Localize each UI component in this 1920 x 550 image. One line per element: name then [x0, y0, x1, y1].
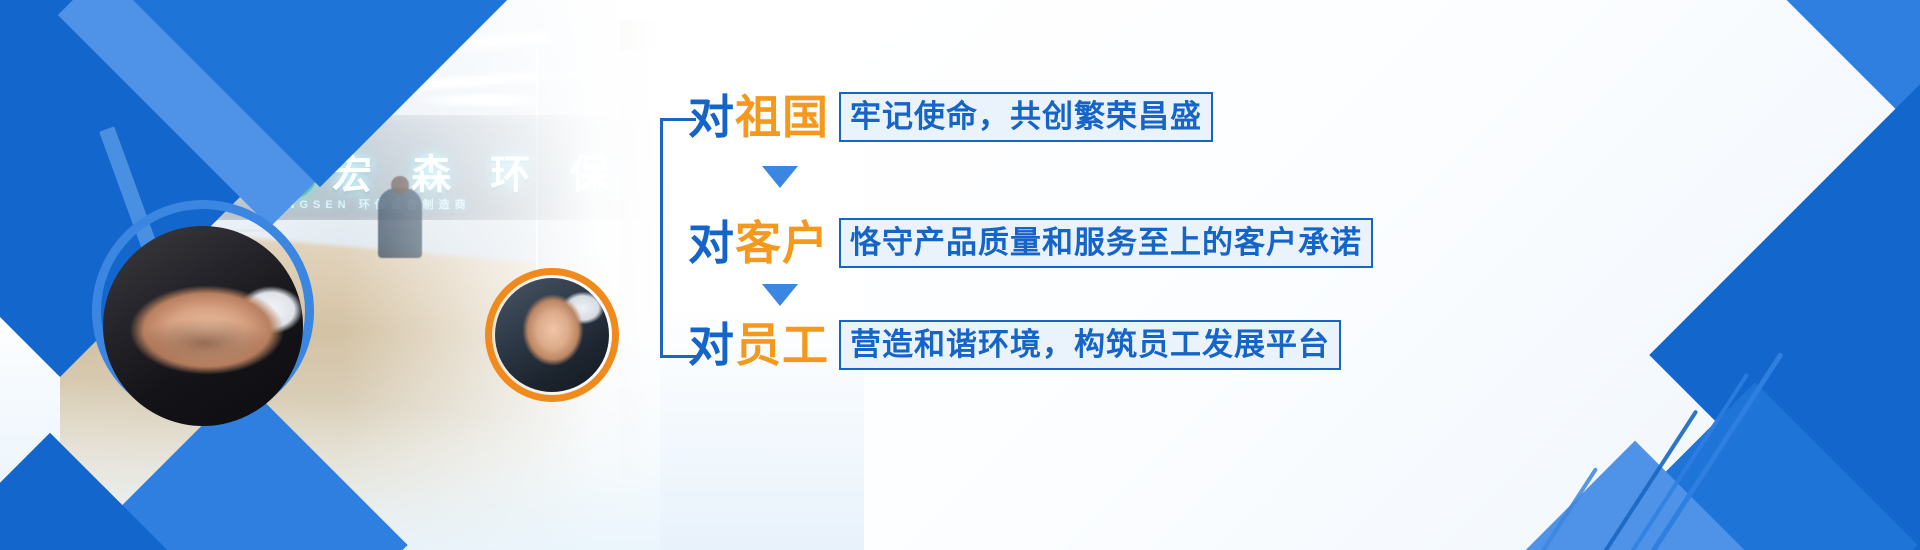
slogan-row-3: 对员工 营造和谐环境，构筑员工发展平台: [688, 320, 1341, 370]
applause-circle-photo: [495, 278, 609, 392]
triangle-down-icon: [762, 166, 798, 188]
slogan-target-2: 客户: [735, 217, 829, 269]
handshake-circle-photo: [103, 226, 303, 426]
slogan-heading-1: 对祖国: [688, 94, 829, 140]
slogan-statement-1: 牢记使命，共创繁荣昌盛: [839, 92, 1213, 142]
slogan-prefix-2: 对: [688, 217, 735, 269]
slogan-content: 对祖国 牢记使命，共创繁荣昌盛 对客户 恪守产品质量和服务至上的客户承诺 对员工…: [660, 0, 1560, 550]
slogan-target-1: 祖国: [735, 91, 829, 143]
slogan-row-1: 对祖国 牢记使命，共创繁荣昌盛: [688, 92, 1213, 142]
promo-banner: 宏 森 环 保 HONGSEN 环保设备制造商 对祖国 牢记使命，共创繁荣昌盛: [0, 0, 1920, 550]
slogan-prefix-1: 对: [688, 91, 735, 143]
slogan-statement-3: 营造和谐环境，构筑员工发展平台: [839, 320, 1341, 370]
slogan-target-3: 员工: [735, 319, 829, 371]
slogan-statement-2: 恪守产品质量和服务至上的客户承诺: [839, 218, 1373, 268]
slogan-heading-3: 对员工: [688, 322, 829, 368]
slogan-prefix-3: 对: [688, 319, 735, 371]
slogan-row-2: 对客户 恪守产品质量和服务至上的客户承诺: [688, 218, 1373, 268]
triangle-down-icon: [762, 284, 798, 306]
slogan-heading-2: 对客户: [688, 220, 829, 266]
handshake-shadow: [137, 318, 271, 368]
